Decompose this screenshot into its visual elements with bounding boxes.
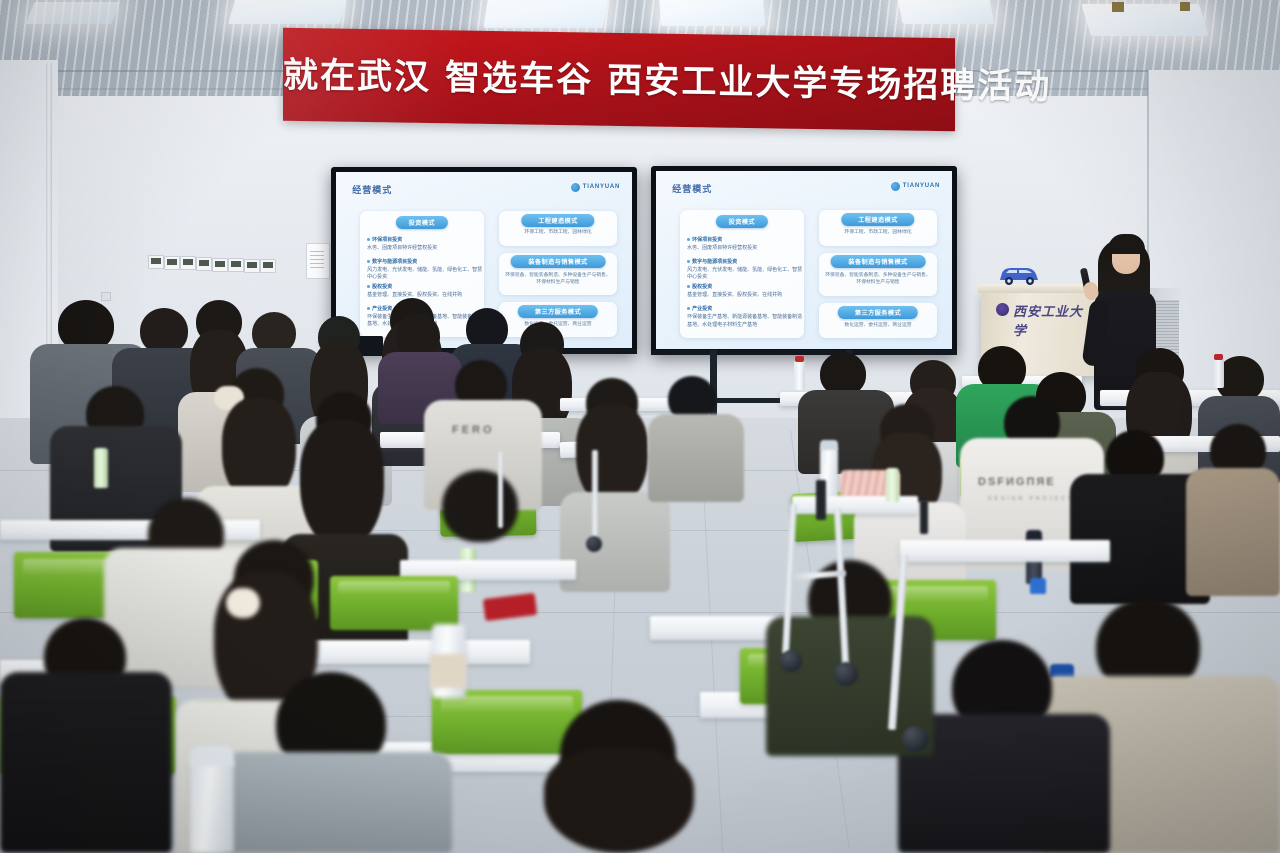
investment-pill: 投资模式: [396, 216, 448, 229]
audience-torso: [222, 752, 452, 853]
bullet-group: 环保项目投资 水务、固废项目特许经营权投资: [687, 237, 757, 253]
audience-hair: [544, 748, 694, 853]
desk-caster: [586, 536, 602, 552]
wall-switch[interactable]: [164, 256, 180, 270]
bullet-group: 产业投资 环保装备生产基地、新能源装备基地、智能装备制造基地、水处理电子材料生产…: [687, 306, 804, 329]
bullet-group: 数字与能源项目投资 风力发电、光伏发电、储能、氢能、绿色化工、智慧中心投资: [367, 259, 484, 282]
screen-bezel: [651, 350, 957, 355]
manufacturing-card: 装备制造与销售模式 环保装备、智能装备制造、多种设备生产与销售、环保材料生产与销…: [819, 253, 937, 296]
jacket-print-subtext: DESIGN PROJECT: [988, 496, 1076, 504]
bullet-heading: 股权投资: [692, 284, 712, 290]
chair[interactable]: [432, 690, 582, 754]
bottle-icon: [94, 448, 108, 488]
bullet-heading: 数字与能源项目投资: [692, 259, 737, 265]
manufacturing-detail: 环保装备、智能装备制造、多种设备生产与销售、环保材料生产与销售: [504, 272, 613, 287]
bullet-icon: [367, 238, 370, 241]
bullet-group: 股权投资 基金管理、直接投资、股权投资、在线并购: [687, 284, 782, 300]
investment-card: 投资模式 环保项目投资 水务、固废项目特许经营权投资 数字与能源项目投资 风力发…: [680, 210, 804, 338]
university-seal-icon: [996, 303, 1009, 316]
light-mount: [1112, 2, 1124, 12]
jacket-print-text: FERO: [452, 424, 518, 444]
bullet-group: 数字与能源项目投资 风力发电、光伏发电、储能、氢能、绿色化工、智慧中心投资: [687, 259, 804, 282]
engineering-card: 工程建造模式 环保工程、市政工程、园林绿化: [499, 211, 617, 246]
bottle-label: [1030, 578, 1046, 594]
bullet-heading: 数字与能源项目投资: [372, 259, 417, 265]
banner-text: 就在武汉 智选车谷 西安工业大学专场招聘活动: [283, 47, 955, 109]
bottle-icon: [1213, 358, 1224, 388]
bullet-heading: 产业投资: [692, 306, 712, 312]
bullet-detail: 水务、固废项目特许经营权投资: [687, 245, 757, 253]
audience-torso: [1186, 468, 1280, 596]
bullet-group: 环保项目投资 水务、固废项目特许经营权投资: [367, 237, 437, 253]
bottle-icon: [886, 468, 899, 502]
engineering-card: 工程建造模式 环保工程、市政工程、园林绿化: [819, 210, 937, 246]
ceiling-light-panel: [897, 0, 995, 24]
manufacturing-card: 装备制造与销售模式 环保装备、智能装备制造、多种设备生产与销售、环保材料生产与销…: [499, 253, 617, 295]
bullet-icon: [367, 307, 370, 310]
bullet-detail: 风力发电、光伏发电、储能、氢能、绿色化工、智慧中心投资: [687, 267, 804, 283]
ceiling-light-panel: [659, 0, 766, 26]
wall-switch[interactable]: [180, 256, 196, 270]
ceiling-light-panel: [483, 0, 608, 28]
logo-text: TIANYUAN: [903, 183, 940, 189]
university-name: 西安工业大学: [1013, 301, 1090, 339]
wall-outlet: [101, 292, 111, 301]
bottle-cap: [795, 356, 804, 362]
bullet-heading: 环保项目投资: [372, 237, 402, 243]
bullet-detail: 环保装备生产基地、新能源装备基地、智能装备制造基地、水处理电子材料生产基地: [687, 314, 804, 330]
bullet-icon: [687, 260, 690, 263]
logo-mark-icon: [891, 182, 900, 191]
tianyuan-logo: TIANYUAN: [891, 182, 940, 191]
logo-text: TIANYUAN: [583, 184, 620, 190]
chair-frame: [920, 500, 928, 534]
right-display-screen[interactable]: 经营模式 TIANYUAN 投资模式 环保项目投资 水务、固废项目特许经营权投资…: [651, 166, 957, 354]
presenter-fringe: [1108, 234, 1145, 254]
thirdparty-detail: 数化运营、委托运营、商业运营: [504, 321, 613, 329]
bullet-icon: [367, 260, 370, 263]
bullet-detail: 基金管理、直接投资、股权投资、在线并购: [687, 292, 782, 300]
wall-sign-text: [310, 250, 324, 268]
wall-switch[interactable]: [196, 257, 212, 271]
audience-torso: [560, 492, 670, 592]
bullet-icon: [367, 285, 370, 288]
manufacturing-pill: 装备制造与销售模式: [831, 255, 926, 268]
bullet-icon: [687, 238, 690, 241]
event-banner: 就在武汉 智选车谷 西安工业大学专场招聘活动: [283, 28, 955, 132]
desk-leg: [498, 452, 503, 528]
desk: [792, 496, 918, 514]
manufacturing-detail: 环保装备、智能装备制造、多种设备生产与销售、环保材料生产与销售: [824, 272, 933, 287]
thermos-cap: [190, 746, 234, 766]
wall-pipe: [46, 62, 52, 362]
wall-switch[interactable]: [228, 258, 244, 272]
thermos-label: [430, 654, 466, 688]
audience-head: [442, 470, 518, 542]
engineering-detail: 环保工程、市政工程、园林绿化: [504, 229, 613, 237]
audience-torso: [0, 672, 172, 853]
engineering-pill: 工程建造模式: [521, 214, 594, 227]
desk: [900, 540, 1110, 562]
ceiling-light-panel: [26, 2, 121, 24]
engineering-detail: 环保工程、市政工程、园林绿化: [824, 229, 933, 237]
bullet-heading: 股权投资: [372, 284, 392, 290]
thermos-cap: [820, 440, 838, 450]
thirdparty-pill: 第三方服务模式: [838, 306, 919, 319]
bullet-detail: 风力发电、光伏发电、储能、氢能、绿色化工、智慧中心投资: [367, 267, 484, 283]
investment-pill: 投资模式: [716, 215, 768, 228]
hair-scrunchie: [226, 588, 260, 618]
desk-caster: [902, 726, 928, 752]
bottle-icon: [794, 360, 805, 390]
manufacturing-pill: 装备制造与销售模式: [511, 255, 606, 268]
thirdparty-detail: 数化运营、委托运营、商业运营: [824, 322, 933, 330]
slide-title: 经营模式: [672, 182, 712, 195]
desk-caster: [834, 662, 858, 686]
podium-university-logo: 西安工业大学: [996, 300, 1090, 322]
wall-switch[interactable]: [244, 259, 260, 273]
bullet-icon: [687, 307, 690, 310]
bullet-heading: 产业投资: [372, 306, 392, 312]
bullet-detail: 水务、固废项目特许经营权投资: [367, 245, 437, 253]
chair[interactable]: [330, 576, 458, 630]
thermos-icon: [190, 760, 234, 853]
chair-frame: [816, 480, 826, 520]
desk-leg: [592, 450, 598, 540]
car-icon: [996, 262, 1042, 288]
bullet-heading: 环保项目投资: [692, 237, 722, 243]
thirdparty-pill: 第三方服务模式: [518, 305, 599, 318]
slide-title: 经营模式: [352, 183, 392, 196]
wall-switch[interactable]: [148, 255, 164, 269]
tianyuan-logo: TIANYUAN: [571, 183, 620, 192]
wall-switch[interactable]: [260, 259, 276, 273]
engineering-pill: 工程建造模式: [841, 213, 914, 226]
ceiling-light-panel: [228, 0, 348, 24]
light-mount: [1180, 2, 1190, 11]
thirdparty-card: 第三方服务模式 数化运营、委托运营、商业运营: [819, 303, 937, 339]
right-slide-surface: 经营模式 TIANYUAN 投资模式 环保项目投资 水务、固废项目特许经营权投资…: [656, 171, 952, 349]
wall-switch[interactable]: [212, 258, 228, 272]
audience-torso: [648, 414, 744, 502]
logo-mark-icon: [571, 183, 580, 192]
bottle-cap: [1214, 354, 1223, 360]
classroom-photo-scene: 就在武汉 智选车谷 西安工业大学专场招聘活动 经营模式 TIANYUAN 投资模…: [0, 0, 1280, 853]
desk-caster: [780, 650, 802, 672]
audience-hair: [300, 420, 384, 550]
bullet-icon: [687, 285, 690, 288]
